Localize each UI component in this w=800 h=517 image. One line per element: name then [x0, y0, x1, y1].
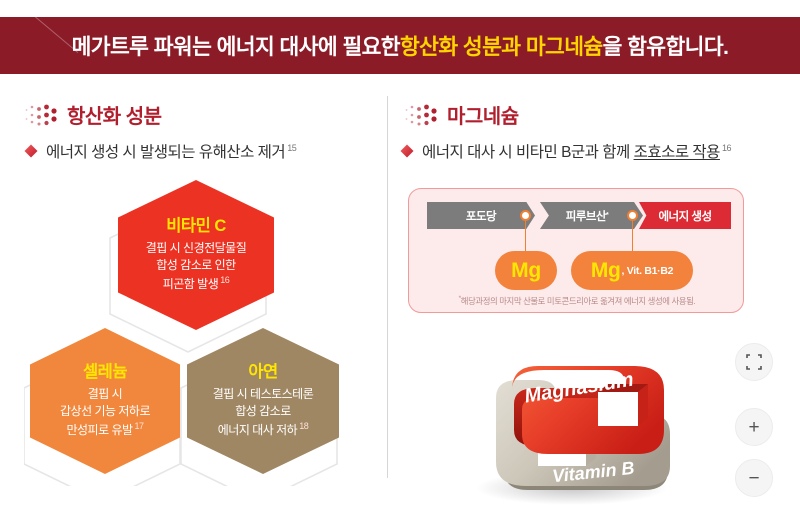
- header-text-post: 을 함유합니다.: [603, 30, 729, 61]
- bullet-text-magnesium: 에너지 대사 시 비타민 B군과 함께 조효소로 작용16: [422, 140, 731, 162]
- pill-mg-second-label: Mg: [591, 259, 621, 283]
- flow-connector-stem: [525, 219, 527, 253]
- bullet-label-magnesium: 에너지 대사 시 비타민 B군과 함께: [422, 144, 634, 161]
- hex-line-text: 에너지 대사 저하: [218, 423, 297, 437]
- flow-footnote-text: 해당과정의 마지막 산물로 미토콘드리아로 옮겨져 에너지 생성에 사용됨.: [461, 296, 696, 306]
- magnesium-link: Magnasium: [512, 366, 664, 454]
- dot-pattern-icon: [404, 104, 438, 126]
- hex-line-text: 만성피로 유발: [66, 423, 132, 437]
- hex-line-text: 피곤함 발생: [163, 277, 219, 291]
- section-title-magnesium: 마그네슘: [447, 100, 519, 129]
- flow-connector-stem: [632, 219, 634, 253]
- hexagon-title-vitamin-c: 비타민 C: [166, 217, 226, 235]
- antioxidant-hexagon-group: 비타민 C 결핍 시 신경전달물질 합성 감소로 인한 피곤함 발생16 셀레늄…: [24, 176, 364, 486]
- section-heading-magnesium: 마그네슘: [404, 100, 519, 129]
- header-text-pre: 메가트루 파워는 에너지 대사에 필요한: [72, 30, 400, 61]
- bullet-antioxidant: 에너지 생성 시 발생되는 유해산소 제거15: [24, 140, 296, 162]
- minus-icon: −: [748, 469, 759, 488]
- panel-divider: [387, 96, 388, 478]
- metabolism-flow-row: 포도당 피루브산* 에너지 생성: [427, 202, 729, 229]
- hex-line: 결핍 시: [60, 386, 150, 403]
- pill-vitamin-suffix: , Vit. B1·B2: [622, 265, 674, 277]
- diamond-bullet-icon: [400, 144, 414, 158]
- fit-screen-icon: [746, 354, 762, 370]
- hexagon-title-zinc: 아연: [248, 363, 277, 381]
- header-text-highlight: 항산화 성분과 마그네슘: [400, 30, 603, 61]
- hex-sup-vitamin-c: 16: [220, 275, 229, 285]
- flow-step-energy-label: 에너지 생성: [658, 208, 711, 224]
- hexagon-body-selenium: 결핍 시 갑상선 기능 저하로 만성피로 유발17: [60, 386, 150, 439]
- pill-mg-first-label: Mg: [511, 259, 541, 283]
- pill-mg-vitamins[interactable]: Mg, Vit. B1·B2: [571, 251, 693, 290]
- hex-line: 만성피로 유발17: [60, 420, 150, 439]
- hexagon-title-selenium: 셀레늄: [83, 363, 127, 381]
- hex-line: 합성 감소로 인한: [146, 257, 247, 274]
- slide-root: 메가트루 파워는 에너지 대사에 필요한 항산화 성분과 마그네슘을 함유합니다…: [0, 0, 800, 517]
- hex-line: 에너지 대사 저하18: [213, 420, 314, 439]
- pill-mg-first[interactable]: Mg: [495, 251, 557, 290]
- page-title: 메가트루 파워는 에너지 대사에 필요한 항산화 성분과 마그네슘을 함유합니다…: [0, 17, 800, 74]
- hex-line: 합성 감소로: [213, 403, 314, 420]
- hex-line: 피곤함 발생16: [146, 274, 247, 293]
- plus-icon: +: [748, 418, 759, 437]
- hex-line: 결핍 시 신경전달물질: [146, 240, 247, 257]
- flow-step-glucose[interactable]: 포도당: [427, 202, 535, 229]
- magnesium-vitaminb-link-graphic: Magnasium Vitamin B: [452, 330, 714, 510]
- section-heading-antioxidant: 항산화 성분: [24, 100, 162, 129]
- flow-footnote: *해당과정의 마지막 산물로 미토콘드리아로 옮겨져 에너지 생성에 사용됨.: [423, 295, 731, 307]
- flow-step-energy[interactable]: 에너지 생성: [639, 202, 731, 229]
- bullet-underlined-magnesium: 조효소로 작용: [634, 144, 720, 161]
- flow-step-glucose-label: 포도당: [466, 208, 496, 224]
- diamond-bullet-icon: [24, 144, 38, 158]
- hex-sup-selenium: 17: [135, 421, 144, 431]
- bullet-text-antioxidant: 에너지 생성 시 발생되는 유해산소 제거15: [46, 140, 296, 162]
- bullet-sup-antioxidant: 15: [287, 143, 296, 153]
- dot-pattern-icon: [24, 104, 58, 126]
- section-title-antioxidant: 항산화 성분: [67, 100, 162, 129]
- fit-screen-button[interactable]: [735, 343, 773, 381]
- flow-step-pyruvate-label: 피루브산: [566, 208, 606, 224]
- zoom-in-button[interactable]: +: [735, 408, 773, 446]
- hexagon-body-vitamin-c: 결핍 시 신경전달물질 합성 감소로 인한 피곤함 발생16: [146, 240, 247, 293]
- bullet-label-antioxidant: 에너지 생성 시 발생되는 유해산소 제거: [46, 144, 285, 161]
- zoom-out-button[interactable]: −: [735, 459, 773, 497]
- bullet-magnesium: 에너지 대사 시 비타민 B군과 함께 조효소로 작용16: [400, 140, 731, 162]
- hex-sup-zinc: 18: [299, 421, 308, 431]
- hex-line: 갑상선 기능 저하로: [60, 403, 150, 420]
- slide-header-bar: 메가트루 파워는 에너지 대사에 필요한 항산화 성분과 마그네슘을 함유합니다…: [0, 17, 800, 74]
- hex-line: 결핍 시 테스토스테론: [213, 386, 314, 403]
- hexagon-body-zinc: 결핍 시 테스토스테론 합성 감소로 에너지 대사 저하18: [213, 386, 314, 439]
- magnesium-flow-card: 포도당 피루브산* 에너지 생성 Mg Mg, Vit. B1·B2 *해당과정…: [408, 188, 744, 313]
- bullet-sup-magnesium: 16: [722, 143, 731, 153]
- flow-step-pyruvate-sup: *: [606, 212, 608, 219]
